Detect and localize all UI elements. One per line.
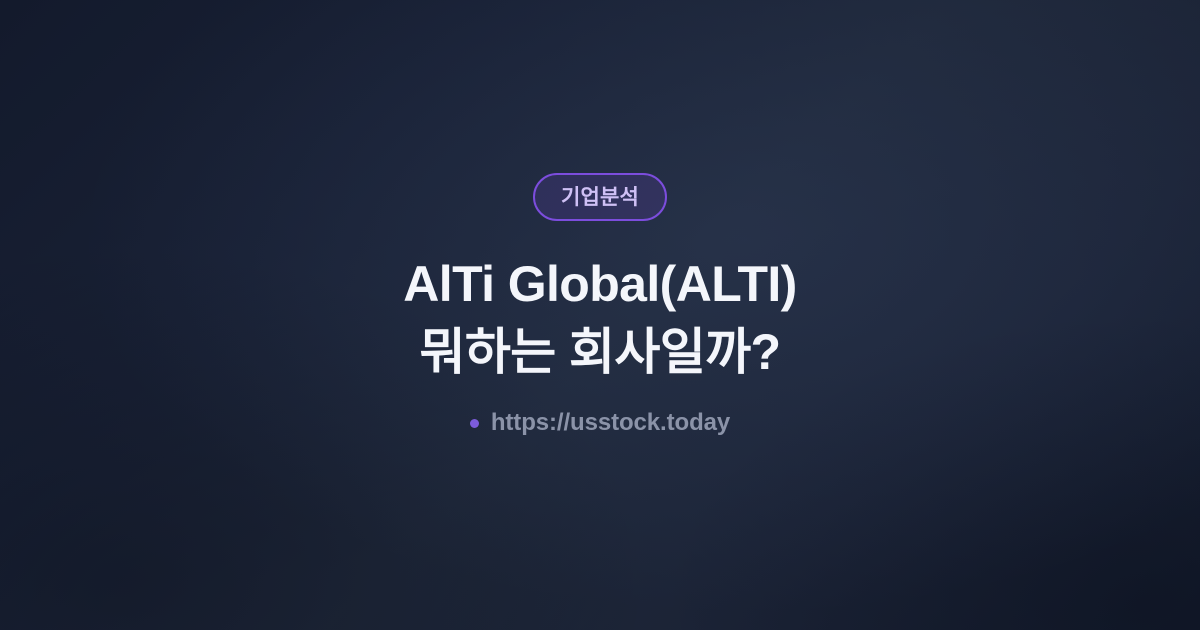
site-url-label: https://usstock.today	[491, 411, 730, 435]
og-share-card: 기업분석 AlTi Global(ALTI) 뭐하는 회사일까? https:/…	[0, 0, 1200, 630]
page-title-line-1: AlTi Global(ALTI)	[403, 251, 796, 317]
page-title-line-2: 뭐하는 회사일까?	[403, 319, 796, 385]
page-title: AlTi Global(ALTI) 뭐하는 회사일까?	[403, 221, 796, 385]
card-content: 기업분석 AlTi Global(ALTI) 뭐하는 회사일까? https:/…	[0, 173, 1200, 435]
dot-icon	[470, 419, 479, 428]
site-url-row: https://usstock.today	[470, 411, 730, 435]
category-badge: 기업분석	[533, 173, 667, 221]
